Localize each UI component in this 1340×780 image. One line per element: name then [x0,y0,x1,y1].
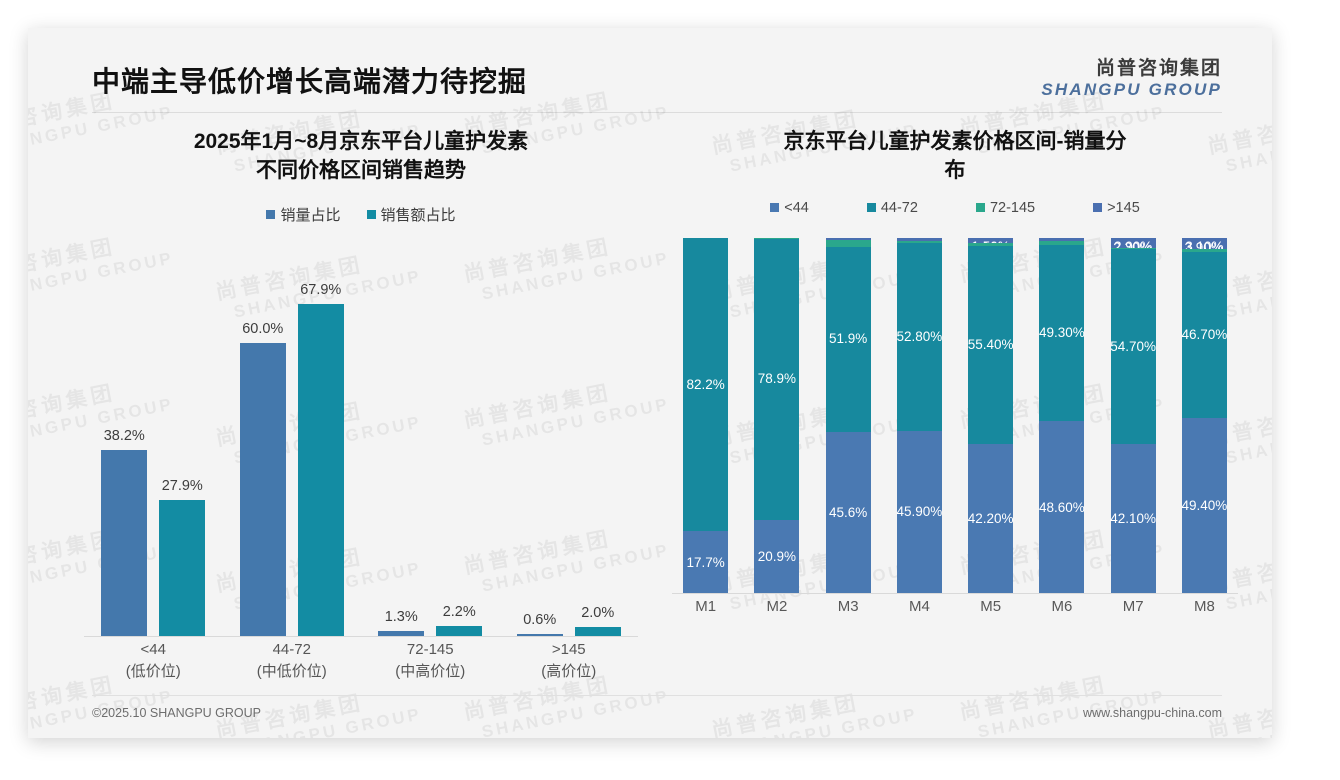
x-axis-tick: M5 [955,598,1026,615]
bar-value-label: 2.0% [581,605,614,621]
right-x-axis-labels: M1M2M3M4M5M6M7M8 [670,598,1240,615]
bar-column[interactable]: 2.2% [436,235,482,637]
stack-segment-44-72[interactable]: 51.9% [826,247,871,432]
stack-segment-label: 45.90% [896,505,942,519]
legend-item-销售额占比[interactable]: 销售额占比 [367,204,456,225]
x-axis-tick-range: <44 [141,641,166,658]
stack-segment-label: 78.9% [758,372,796,386]
stack-segment-label: 46.70% [1181,328,1227,342]
bar-group: 0.6%2.0% [500,235,639,637]
legend-swatch-icon [367,210,376,219]
stack-segment-44-72[interactable]: 52.80% [897,243,942,431]
bar-rect[interactable] [159,500,205,637]
legend-item-销量占比[interactable]: 销量占比 [266,204,340,225]
stacked-bar-column[interactable]: 0.90%1.20%49.30%48.60% [1026,238,1097,594]
right-chart-panel: 京东平台儿童护发素价格区间-销量分 布 <4444-7272-145>145 0… [664,128,1246,708]
bar-column[interactable]: 2.0% [575,235,621,637]
legend-label: 72-145 [990,200,1035,216]
stack-segment-label: 54.70% [1110,340,1156,354]
legend-swatch-icon [867,203,876,212]
legend-label: 销量占比 [280,204,340,225]
left-chart-panel: 2025年1月~8月京东平台儿童护发素 不同价格区间销售趋势 销量占比销售额占比… [76,128,646,708]
logo-text-cn: 尚普咨询集团 [1041,58,1222,80]
stacked-bar[interactable]: 2.90%2.30%54.70%42.10% [1111,238,1156,594]
bar-value-label: 27.9% [162,478,203,494]
x-axis-tick: M1 [670,598,741,615]
x-axis-tick: M7 [1098,598,1169,615]
x-axis-tick: >145(高价位) [500,639,639,684]
legend-swatch-icon [770,203,779,212]
brand-logo: 尚普咨询集团 SHANGPU GROUP [1041,58,1222,99]
bar-value-label: 2.2% [443,604,476,620]
stack-segment-label: 49.30% [1039,326,1085,340]
slide-canvas: 尚普咨询集团SHANGPU GROUP尚普咨询集团SHANGPU GROUP尚普… [28,28,1272,738]
stacked-bar[interactable]: 0.90%0.40%52.80%45.90% [897,238,942,594]
bar-group: 1.3%2.2% [361,235,500,637]
x-axis-tick-sub: (高价位) [500,661,639,684]
legend-item-<44[interactable]: <44 [770,200,809,216]
left-bar-groups: 38.2%27.9%60.0%67.9%1.3%2.2%0.6%2.0% [84,235,638,637]
bar-column[interactable]: 1.3% [378,235,424,637]
legend-item->145[interactable]: >145 [1093,200,1140,216]
slide-header: 中端主导低价增长高端潜力待挖掘 尚普咨询集团 SHANGPU GROUP [28,28,1272,112]
x-axis-tick: M8 [1169,598,1240,615]
stack-segment-label: 17.7% [686,556,724,570]
right-chart-title-line1: 京东平台儿童护发素价格区间-销量分 [724,128,1186,157]
stack-segment->145[interactable]: 2.90%2.30% [1111,238,1156,248]
stacked-bar-column[interactable]: 1.50%0.90%55.40%42.20% [955,238,1026,594]
stacked-bar[interactable]: 3.10%3.90%46.70%49.40% [1182,238,1227,594]
stack-segment-label: 49.40% [1181,499,1227,513]
stack-segment-<44[interactable]: 49.40% [1182,418,1227,594]
left-chart-legend: 销量占比销售额占比 [76,204,646,225]
x-axis-tick: 44-72(中低价位) [223,639,362,684]
bar-value-label: 38.2% [104,428,145,444]
legend-label: <44 [784,200,809,216]
x-axis-tick-sub: (中低价位) [223,661,362,684]
stacked-bar-column[interactable]: 0.9%0.1%82.2%17.7% [670,238,741,594]
stack-segment-<44[interactable]: 17.7% [683,531,728,594]
legend-label: 44-72 [881,200,918,216]
stack-segment->145[interactable]: 3.10%3.90% [1182,238,1227,249]
stack-segment-label: 55.40% [968,338,1014,352]
bar-group: 60.0%67.9% [223,235,362,637]
bar-rect[interactable] [101,450,147,637]
x-axis-tick-sub: (低价位) [84,661,223,684]
bar-column[interactable]: 27.9% [159,235,205,637]
x-axis-tick: <44(低价位) [84,639,223,684]
legend-item-72-145[interactable]: 72-145 [976,200,1035,216]
right-x-axis-line [672,593,1238,594]
legend-label: >145 [1107,200,1140,216]
stacked-bar[interactable]: 1.50%0.90%55.40%42.20% [968,238,1013,594]
stacked-bar[interactable]: 1.8%0.7%51.9%45.6% [826,238,871,594]
stacked-bar[interactable]: 0.9%0.1%82.2%17.7% [683,238,728,594]
bar-column[interactable]: 0.6% [517,235,563,637]
right-chart-legend: <4444-7272-145>145 [664,200,1246,216]
left-chart-title-line1: 2025年1月~8月京东平台儿童护发素 [100,128,622,157]
right-stacked-bars: 0.9%0.1%82.2%17.7%0.1%0.1%78.9%20.9%1.8%… [670,238,1240,594]
stack-segment-label: 52.80% [896,330,942,344]
stack-segment-label: 20.9% [758,550,796,564]
stack-segment-44-72[interactable]: 55.40% [968,246,1013,443]
x-axis-tick: M6 [1026,598,1097,615]
stack-segment-<44[interactable]: 45.90% [897,431,942,594]
left-chart-title: 2025年1月~8月京东平台儿童护发素 不同价格区间销售趋势 [76,128,646,186]
x-axis-tick-range: 44-72 [273,641,311,658]
x-axis-tick: 72-145(中高价位) [361,639,500,684]
bar-group: 38.2%27.9% [84,235,223,637]
bar-column[interactable]: 67.9% [298,235,344,637]
stack-segment-label: 51.9% [829,332,867,346]
stack-segment-<44[interactable]: 20.9% [754,520,799,594]
x-axis-tick: M2 [741,598,812,615]
legend-label: 销售额占比 [381,204,456,225]
stack-segment-44-72[interactable]: 54.70% [1111,249,1156,444]
x-axis-tick-sub: (中高价位) [361,661,500,684]
stack-segment-<44[interactable]: 48.60% [1039,421,1084,594]
bar-value-label: 0.6% [523,612,556,628]
stack-segment-44-72[interactable]: 78.9% [754,239,799,520]
right-chart-plot: 0.9%0.1%82.2%17.7%0.1%0.1%78.9%20.9%1.8%… [664,238,1246,594]
bar-column[interactable]: 60.0% [240,235,286,637]
footer-website: www.shangpu-china.com [1083,706,1222,720]
footer-copyright: ©2025.10 SHANGPU GROUP [92,706,261,720]
legend-swatch-icon [976,203,985,212]
stack-segment-<44[interactable]: 45.6% [826,432,871,594]
bar-value-label: 1.3% [385,609,418,625]
x-axis-tick-range: 72-145 [407,641,454,658]
stack-segment-label: 45.6% [829,506,867,520]
left-chart-plot: 38.2%27.9%60.0%67.9%1.3%2.2%0.6%2.0% <44… [76,235,646,637]
stacked-bar-column[interactable]: 0.1%0.1%78.9%20.9% [741,238,812,594]
left-x-axis-line [84,636,638,637]
stack-segment-44-72[interactable]: 49.30% [1039,245,1084,421]
bar-rect[interactable] [298,304,344,637]
left-chart-title-line2: 不同价格区间销售趋势 [100,157,622,186]
stack-segment-44-72[interactable]: 82.2% [683,238,728,531]
stacked-bar-column[interactable]: 0.90%0.40%52.80%45.90% [884,238,955,594]
stacked-bar-column[interactable]: 2.90%2.30%54.70%42.10% [1098,238,1169,594]
stack-segment-label: 42.20% [968,512,1014,526]
stacked-bar[interactable]: 0.1%0.1%78.9%20.9% [754,238,799,594]
logo-text-en: SHANGPU GROUP [1041,80,1222,100]
stacked-bar-column[interactable]: 1.8%0.7%51.9%45.6% [813,238,884,594]
page-title: 中端主导低价增长高端潜力待挖掘 [92,60,527,100]
stacked-bar[interactable]: 0.90%1.20%49.30%48.60% [1039,238,1084,594]
bar-column[interactable]: 38.2% [101,235,147,637]
legend-swatch-icon [266,210,275,219]
stack-segment-<44[interactable]: 42.20% [968,444,1013,594]
footer-divider [92,695,1222,696]
stack-segment-label: 82.2% [686,378,724,392]
bar-value-label: 67.9% [300,282,341,298]
right-chart-title: 京东平台儿童护发素价格区间-销量分 布 [664,128,1246,186]
stack-segment-label: 48.60% [1039,501,1085,515]
legend-item-44-72[interactable]: 44-72 [867,200,918,216]
stack-segment-label: 42.10% [1110,512,1156,526]
x-axis-tick: M4 [884,598,955,615]
right-chart-title-line2: 布 [724,157,1186,186]
bar-value-label: 60.0% [242,321,283,337]
legend-swatch-icon [1093,203,1102,212]
x-axis-tick-range: >145 [552,641,586,658]
bar-rect[interactable] [240,343,286,637]
header-divider [92,112,1222,113]
left-x-axis-labels: <44(低价位)44-72(中低价位)72-145(中高价位)>145(高价位) [84,639,638,684]
stack-segment-<44[interactable]: 42.10% [1111,444,1156,594]
stack-segment-44-72[interactable]: 46.70% [1182,252,1227,418]
x-axis-tick: M3 [813,598,884,615]
stacked-bar-column[interactable]: 3.10%3.90%46.70%49.40% [1169,238,1240,594]
